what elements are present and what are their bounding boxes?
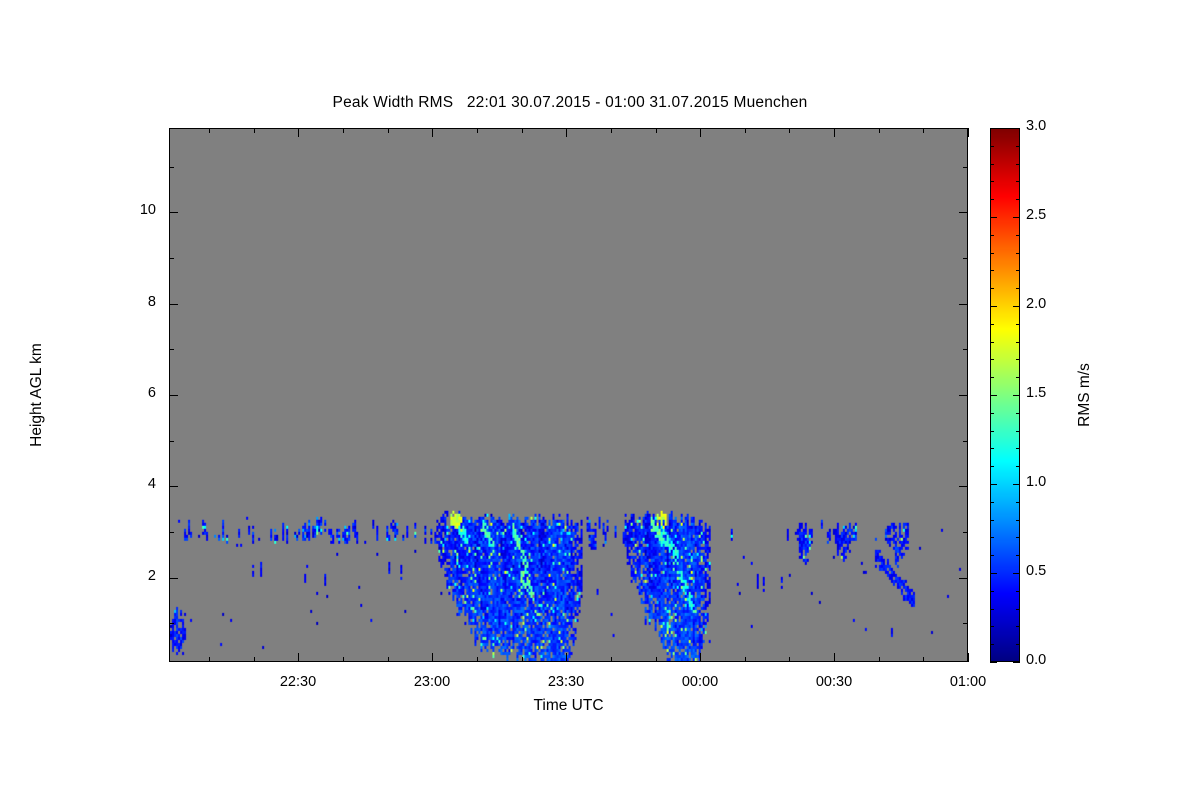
colorbar-minor-tick xyxy=(990,342,994,343)
colorbar-major-tick xyxy=(990,395,997,396)
x-minor-tick xyxy=(923,657,924,662)
y-major-tick xyxy=(169,578,178,579)
colorbar-minor-tick xyxy=(990,448,994,449)
colorbar-minor-tick xyxy=(1016,537,1020,538)
colorbar-tick-label: 0.5 xyxy=(1026,563,1076,579)
colorbar-tick-label: 2.0 xyxy=(1026,296,1076,312)
x-major-tick-top xyxy=(968,128,969,137)
colorbar-minor-tick xyxy=(1016,413,1020,414)
figure-canvas: Peak Width RMS 22:01 30.07.2015 - 01:00 … xyxy=(0,0,1200,800)
colorbar-minor-tick xyxy=(1016,199,1020,200)
colorbar-minor-tick xyxy=(1016,342,1020,343)
x-tick-label: 00:00 xyxy=(660,674,740,690)
x-minor-tick xyxy=(789,657,790,662)
y-major-tick-right xyxy=(959,578,968,579)
x-tick-label: 00:30 xyxy=(794,674,874,690)
y-minor-tick-right xyxy=(963,258,968,259)
colorbar-tick-label: 1.5 xyxy=(1026,385,1076,401)
colorbar-minor-tick xyxy=(1016,609,1020,610)
y-minor-tick xyxy=(169,532,174,533)
x-minor-tick xyxy=(745,657,746,662)
x-tick-label: 01:00 xyxy=(928,674,1008,690)
x-major-tick xyxy=(834,653,835,662)
colorbar-minor-tick xyxy=(990,644,994,645)
x-tick-label: 23:30 xyxy=(526,674,606,690)
colorbar-minor-tick xyxy=(990,520,994,521)
y-minor-tick-right xyxy=(963,623,968,624)
colorbar-minor-tick xyxy=(990,235,994,236)
colorbar-minor-tick xyxy=(990,591,994,592)
y-major-tick xyxy=(169,486,178,487)
colorbar-minor-tick xyxy=(990,253,994,254)
y-axis-title: Height AGL km xyxy=(28,295,46,495)
colorbar-tick-label: 0.0 xyxy=(1026,652,1076,668)
colorbar-minor-tick xyxy=(1016,377,1020,378)
x-minor-tick xyxy=(656,657,657,662)
y-minor-tick xyxy=(169,441,174,442)
colorbar-minor-tick xyxy=(1016,555,1020,556)
colorbar-minor-tick xyxy=(1016,146,1020,147)
y-major-tick-right xyxy=(959,212,968,213)
colorbar-minor-tick xyxy=(990,288,994,289)
x-minor-tick-top xyxy=(522,128,523,133)
colorbar-minor-tick xyxy=(1016,502,1020,503)
x-major-tick-top xyxy=(834,128,835,137)
y-tick-label: 4 xyxy=(116,476,156,492)
colorbar-minor-tick xyxy=(1016,466,1020,467)
x-minor-tick xyxy=(611,657,612,662)
colorbar-minor-tick xyxy=(990,181,994,182)
y-tick-label: 10 xyxy=(116,202,156,218)
x-major-tick-top xyxy=(298,128,299,137)
y-tick-label: 8 xyxy=(116,294,156,310)
chart-title: Peak Width RMS 22:01 30.07.2015 - 01:00 … xyxy=(0,94,1140,112)
x-major-tick xyxy=(298,653,299,662)
x-axis-title: Time UTC xyxy=(169,697,968,715)
x-minor-tick-top xyxy=(745,128,746,133)
colorbar-minor-tick xyxy=(990,199,994,200)
x-minor-tick-top xyxy=(254,128,255,133)
x-major-tick xyxy=(700,653,701,662)
colorbar-major-tick xyxy=(990,128,997,129)
colorbar-major-tick xyxy=(1013,662,1020,663)
x-major-tick-top xyxy=(566,128,567,137)
x-minor-tick-top xyxy=(343,128,344,133)
y-major-tick-right xyxy=(959,304,968,305)
colorbar-minor-tick xyxy=(1016,164,1020,165)
colorbar-major-tick xyxy=(990,217,997,218)
x-minor-tick xyxy=(254,657,255,662)
x-minor-tick xyxy=(477,657,478,662)
x-major-tick-top xyxy=(700,128,701,137)
colorbar-minor-tick xyxy=(990,324,994,325)
y-minor-tick xyxy=(169,349,174,350)
colorbar-minor-tick xyxy=(990,270,994,271)
colorbar-major-tick xyxy=(990,573,997,574)
colorbar-minor-tick xyxy=(990,377,994,378)
plot-area xyxy=(169,128,968,662)
x-minor-tick xyxy=(522,657,523,662)
y-major-tick xyxy=(169,304,178,305)
colorbar-minor-tick xyxy=(1016,181,1020,182)
colorbar-tick-label: 1.0 xyxy=(1026,474,1076,490)
x-major-tick xyxy=(566,653,567,662)
x-major-tick xyxy=(432,653,433,662)
colorbar-minor-tick xyxy=(990,164,994,165)
x-minor-tick-top xyxy=(209,128,210,133)
colorbar-minor-tick xyxy=(990,626,994,627)
y-major-tick-right xyxy=(959,395,968,396)
colorbar-major-tick xyxy=(990,484,997,485)
colorbar-minor-tick xyxy=(1016,448,1020,449)
x-minor-tick-top xyxy=(656,128,657,133)
colorbar-major-tick xyxy=(1013,217,1020,218)
colorbar-minor-tick xyxy=(1016,520,1020,521)
colorbar-major-tick xyxy=(1013,128,1020,129)
x-minor-tick-top xyxy=(879,128,880,133)
colorbar-minor-tick xyxy=(990,413,994,414)
x-minor-tick-top xyxy=(388,128,389,133)
x-minor-tick xyxy=(343,657,344,662)
colorbar-minor-tick xyxy=(1016,324,1020,325)
colorbar-major-tick xyxy=(990,306,997,307)
x-minor-tick xyxy=(879,657,880,662)
colorbar-minor-tick xyxy=(1016,591,1020,592)
x-tick-label: 23:00 xyxy=(392,674,472,690)
x-minor-tick xyxy=(209,657,210,662)
y-major-tick xyxy=(169,395,178,396)
x-minor-tick-top xyxy=(789,128,790,133)
colorbar-minor-tick xyxy=(990,146,994,147)
y-major-tick-right xyxy=(959,486,968,487)
x-tick-label: 22:30 xyxy=(258,674,338,690)
x-minor-tick-top xyxy=(923,128,924,133)
colorbar-tick-label: 3.0 xyxy=(1026,118,1076,134)
colorbar-title: RMS m/s xyxy=(1076,295,1094,495)
colorbar-minor-tick xyxy=(990,555,994,556)
colorbar-minor-tick xyxy=(990,431,994,432)
y-minor-tick xyxy=(169,167,174,168)
colorbar-major-tick xyxy=(1013,573,1020,574)
x-major-tick-top xyxy=(432,128,433,137)
colorbar-minor-tick xyxy=(1016,235,1020,236)
colorbar-major-tick xyxy=(1013,306,1020,307)
y-minor-tick-right xyxy=(963,349,968,350)
colorbar-minor-tick xyxy=(1016,359,1020,360)
y-tick-label: 6 xyxy=(116,385,156,401)
x-major-tick xyxy=(968,653,969,662)
colorbar-minor-tick xyxy=(990,502,994,503)
colorbar-major-tick xyxy=(1013,484,1020,485)
heatmap-data-layer xyxy=(170,129,967,661)
y-minor-tick-right xyxy=(963,532,968,533)
x-minor-tick xyxy=(388,657,389,662)
colorbar-major-tick xyxy=(1013,395,1020,396)
x-minor-tick-top xyxy=(477,128,478,133)
y-minor-tick-right xyxy=(963,167,968,168)
colorbar-minor-tick xyxy=(990,537,994,538)
colorbar-minor-tick xyxy=(990,359,994,360)
y-minor-tick-right xyxy=(963,441,968,442)
colorbar-minor-tick xyxy=(1016,644,1020,645)
colorbar-minor-tick xyxy=(990,609,994,610)
colorbar-minor-tick xyxy=(1016,626,1020,627)
colorbar-major-tick xyxy=(990,662,997,663)
y-major-tick xyxy=(169,212,178,213)
y-minor-tick xyxy=(169,623,174,624)
colorbar-tick-label: 2.5 xyxy=(1026,207,1076,223)
y-minor-tick xyxy=(169,258,174,259)
colorbar-minor-tick xyxy=(1016,270,1020,271)
x-minor-tick-top xyxy=(611,128,612,133)
colorbar-minor-tick xyxy=(990,466,994,467)
colorbar-minor-tick xyxy=(1016,288,1020,289)
colorbar-minor-tick xyxy=(1016,431,1020,432)
colorbar-minor-tick xyxy=(1016,253,1020,254)
y-tick-label: 2 xyxy=(116,568,156,584)
